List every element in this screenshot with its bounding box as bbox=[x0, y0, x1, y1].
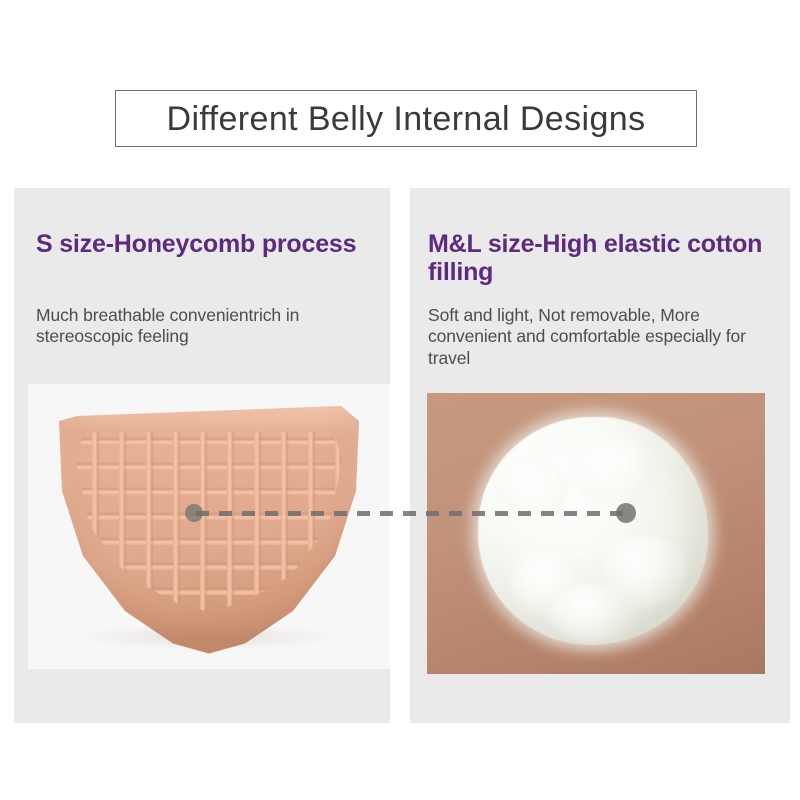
panel-right-description: Soft and light, Not removable, More conv… bbox=[428, 305, 780, 369]
panel-right-heading: M&L size-High elastic cotton filling bbox=[428, 230, 776, 286]
comparison-connector-line bbox=[196, 511, 626, 516]
connector-dot-left bbox=[185, 504, 203, 522]
page-title-box: Different Belly Internal Designs bbox=[115, 90, 697, 147]
panel-left-s-size: S size-Honeycomb process Much breathable… bbox=[14, 188, 390, 723]
connector-dot-right bbox=[616, 503, 636, 523]
honeycomb-silicone-belly-pad-photo bbox=[28, 384, 390, 669]
cotton-filling-photo bbox=[427, 393, 765, 674]
silicone-pad-shadow bbox=[77, 624, 341, 650]
cotton-ball-graphic bbox=[478, 417, 708, 645]
silicone-pad-graphic bbox=[59, 406, 359, 656]
infographic-page: Different Belly Internal Designs S size-… bbox=[0, 0, 800, 800]
panel-left-heading: S size-Honeycomb process bbox=[36, 230, 376, 258]
panel-right-ml-size: M&L size-High elastic cotton filling Sof… bbox=[410, 188, 790, 723]
cotton-tuft bbox=[547, 585, 639, 641]
cotton-tuft bbox=[570, 435, 660, 505]
panel-left-description: Much breathable convenientrich in stereo… bbox=[36, 305, 380, 348]
page-title: Different Belly Internal Designs bbox=[167, 102, 646, 136]
